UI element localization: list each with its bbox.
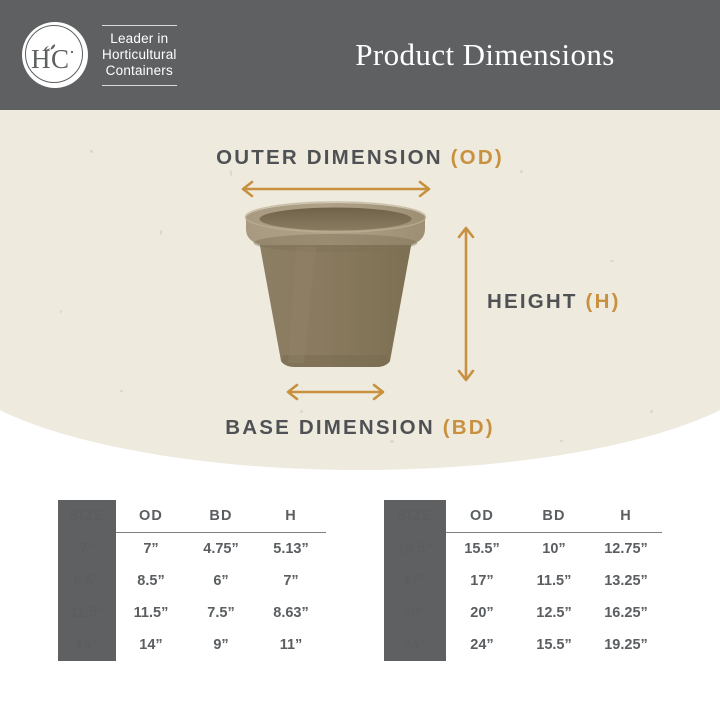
base-dimension-abbr: (BD): [443, 416, 495, 439]
table-row: 15.5” 15.5” 10” 12.75”: [384, 533, 662, 566]
base-dimension-text: BASE DIMENSION: [225, 416, 443, 439]
hc-logo: H C: [22, 22, 88, 88]
cell-size: 17”: [384, 565, 446, 597]
cell-od: 15.5”: [446, 533, 518, 566]
table-header-row: SIZE OD BD H: [384, 500, 662, 533]
cell-h: 13.25”: [590, 565, 662, 597]
header-od: OD: [116, 500, 186, 533]
hc-monogram-icon: H C: [30, 35, 80, 75]
cell-od: 20”: [446, 597, 518, 629]
height-label: HEIGHT (H): [487, 290, 621, 314]
table-row: 20” 20” 12.5” 16.25”: [384, 597, 662, 629]
outer-dimension-abbr: (OD): [451, 146, 504, 169]
cell-bd: 6”: [186, 565, 256, 597]
cell-od: 7”: [116, 533, 186, 566]
cell-size: 24”: [384, 629, 446, 661]
texture-speck: [160, 230, 162, 235]
planter-pot-illustration: [238, 195, 433, 375]
cell-bd: 7.5”: [186, 597, 256, 629]
texture-speck: [300, 410, 303, 413]
texture-speck: [60, 310, 62, 313]
cell-od: 24”: [446, 629, 518, 661]
page-header: H C Leader in Horticultural Containers P…: [0, 0, 720, 110]
table-row: 7” 7” 4.75” 5.13”: [58, 533, 326, 566]
cell-size: 8.5”: [58, 565, 116, 597]
table-row: 14” 14” 9” 11”: [58, 629, 326, 661]
cell-od: 11.5”: [116, 597, 186, 629]
cell-bd: 4.75”: [186, 533, 256, 566]
cell-h: 16.25”: [590, 597, 662, 629]
base-dimension-label: BASE DIMENSION (BD): [0, 416, 720, 440]
cell-h: 5.13”: [256, 533, 326, 566]
page-title-text: Product Dimensions: [355, 37, 615, 73]
texture-speck: [390, 440, 394, 443]
texture-speck: [520, 170, 523, 173]
header-h: H: [256, 500, 326, 533]
height-text: HEIGHT: [487, 290, 586, 313]
tagline-rule-bottom: [102, 85, 177, 86]
svg-text:C: C: [51, 44, 69, 74]
tagline-line-3: Containers: [102, 63, 177, 79]
cell-size: 15.5”: [384, 533, 446, 566]
texture-speck: [610, 260, 614, 262]
cell-od: 17”: [446, 565, 518, 597]
outer-dimension-label: OUTER DIMENSION (OD): [0, 146, 720, 170]
logo-monogram: H C: [30, 35, 80, 75]
cell-h: 12.75”: [590, 533, 662, 566]
table-row: 24” 24” 15.5” 19.25”: [384, 629, 662, 661]
texture-speck: [120, 390, 123, 392]
cell-od: 14”: [116, 629, 186, 661]
header-bd: BD: [186, 500, 256, 533]
table-header-row: SIZE OD BD H: [58, 500, 326, 533]
cell-h: 7”: [256, 565, 326, 597]
brand-tagline: Leader in Horticultural Containers: [102, 25, 177, 86]
cell-od: 8.5”: [116, 565, 186, 597]
table-row: 17” 17” 11.5” 13.25”: [384, 565, 662, 597]
double-arrow-vertical-icon: [457, 223, 475, 385]
cell-bd: 12.5”: [518, 597, 590, 629]
cell-bd: 10”: [518, 533, 590, 566]
cell-size: 11.5”: [58, 597, 116, 629]
cell-size: 20”: [384, 597, 446, 629]
table-row: 11.5” 11.5” 7.5” 8.63”: [58, 597, 326, 629]
double-arrow-horizontal-icon: [283, 383, 388, 401]
dimensions-table-large: SIZE OD BD H 15.5” 15.5” 10” 12.75” 17” …: [384, 500, 662, 661]
base-dimension-arrow: [283, 383, 388, 401]
height-abbr: (H): [586, 290, 621, 313]
texture-speck: [650, 410, 653, 413]
diagram-panel: OUTER DIMENSION (OD): [0, 110, 720, 480]
texture-speck: [560, 440, 563, 442]
header-size: SIZE: [384, 500, 446, 533]
cell-size: 14”: [58, 629, 116, 661]
dimensions-table-small: SIZE OD BD H 7” 7” 4.75” 5.13” 8.5” 8.5”…: [58, 500, 326, 661]
table-row: 8.5” 8.5” 6” 7”: [58, 565, 326, 597]
header-size: SIZE: [58, 500, 116, 533]
cell-h: 8.63”: [256, 597, 326, 629]
svg-text:H: H: [31, 44, 50, 74]
header-bd: BD: [518, 500, 590, 533]
dimension-tables: SIZE OD BD H 7” 7” 4.75” 5.13” 8.5” 8.5”…: [0, 500, 720, 661]
header-h: H: [590, 500, 662, 533]
cell-bd: 9”: [186, 629, 256, 661]
brand-lockup: H C Leader in Horticultural Containers: [22, 22, 177, 88]
height-arrow: [457, 223, 475, 385]
texture-speck: [230, 170, 232, 176]
header-od: OD: [446, 500, 518, 533]
pot-icon: [238, 195, 433, 375]
cell-size: 7”: [58, 533, 116, 566]
cell-h: 11”: [256, 629, 326, 661]
cell-bd: 11.5”: [518, 565, 590, 597]
cell-h: 19.25”: [590, 629, 662, 661]
tagline-line-1: Leader in: [102, 31, 177, 47]
outer-dimension-text: OUTER DIMENSION: [216, 146, 451, 169]
cell-bd: 15.5”: [518, 629, 590, 661]
tagline-line-2: Horticultural: [102, 47, 177, 63]
